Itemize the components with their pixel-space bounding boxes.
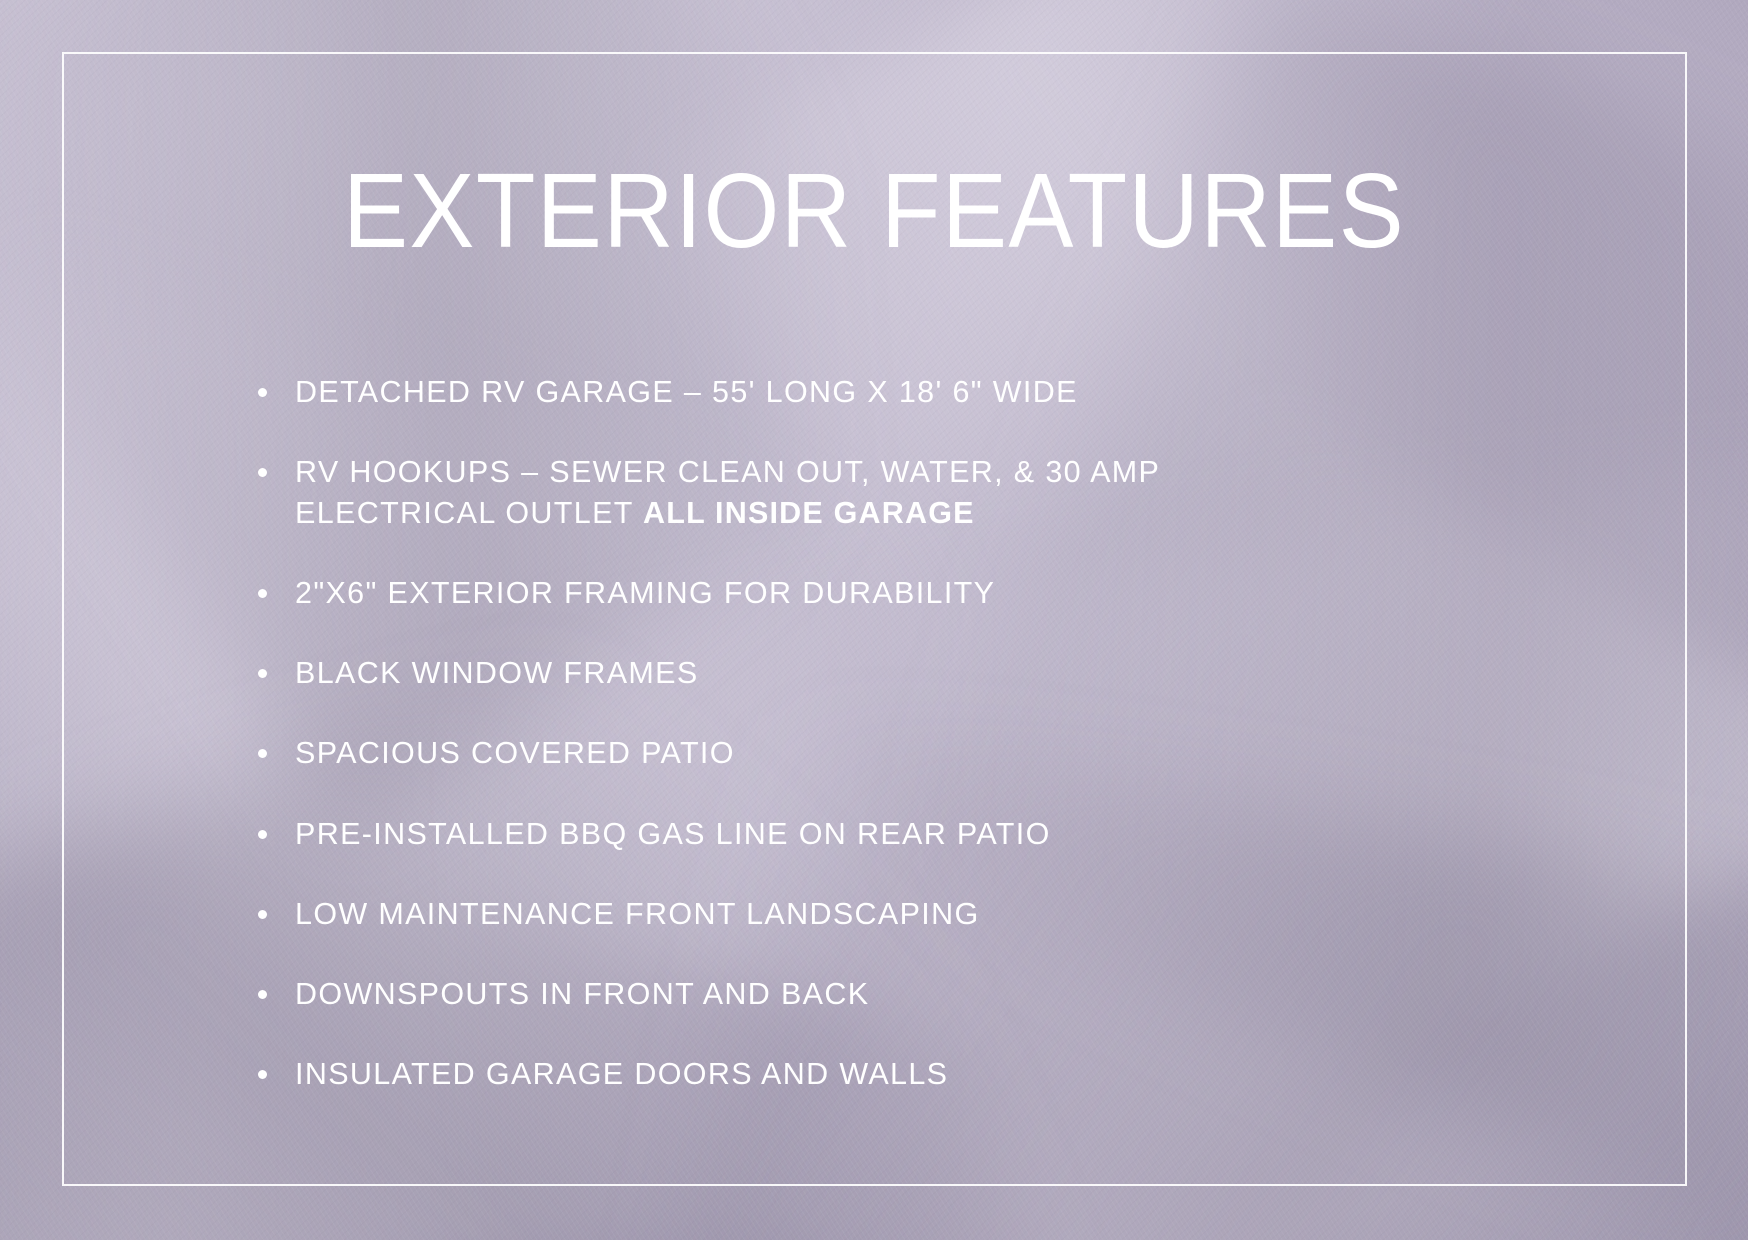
list-item: 2"X6" EXTERIOR FRAMING FOR DURABILITY	[248, 573, 1315, 613]
exterior-features-list: DETACHED RV GARAGE – 55' LONG X 18' 6" W…	[248, 372, 1428, 1095]
list-item: DETACHED RV GARAGE – 55' LONG X 18' 6" W…	[248, 372, 1315, 412]
list-item: INSULATED GARAGE DOORS AND WALLS	[248, 1054, 1315, 1094]
list-item-label: DOWNSPOUTS IN FRONT AND BACK	[295, 977, 869, 1011]
list-item-label: LOW MAINTENANCE FRONT LANDSCAPING	[295, 897, 980, 931]
list-item: RV HOOKUPS – SEWER CLEAN OUT, WATER, & 3…	[248, 452, 1315, 533]
slide-content: EXTERIOR FEATURES DETACHED RV GARAGE – 5…	[0, 0, 1748, 1240]
page-title: EXTERIOR FEATURES	[70, 158, 1678, 264]
list-item-emphasis: ALL INSIDE GARAGE	[643, 496, 975, 530]
list-item-label: 2"X6" EXTERIOR FRAMING FOR DURABILITY	[295, 576, 995, 610]
list-item-label: BLACK WINDOW FRAMES	[295, 656, 699, 690]
list-item-label: INSULATED GARAGE DOORS AND WALLS	[295, 1057, 948, 1091]
list-item: PRE-INSTALLED BBQ GAS LINE ON REAR PATIO	[248, 814, 1315, 854]
list-item-label: DETACHED RV GARAGE – 55' LONG X 18' 6" W…	[295, 375, 1078, 409]
list-item: LOW MAINTENANCE FRONT LANDSCAPING	[248, 894, 1315, 934]
list-item: DOWNSPOUTS IN FRONT AND BACK	[248, 974, 1315, 1014]
list-item: BLACK WINDOW FRAMES	[248, 653, 1315, 693]
list-item-label: PRE-INSTALLED BBQ GAS LINE ON REAR PATIO	[295, 817, 1051, 851]
slide-canvas: EXTERIOR FEATURES DETACHED RV GARAGE – 5…	[0, 0, 1748, 1240]
list-item: SPACIOUS COVERED PATIO	[248, 733, 1315, 773]
list-item-label: SPACIOUS COVERED PATIO	[295, 736, 735, 770]
